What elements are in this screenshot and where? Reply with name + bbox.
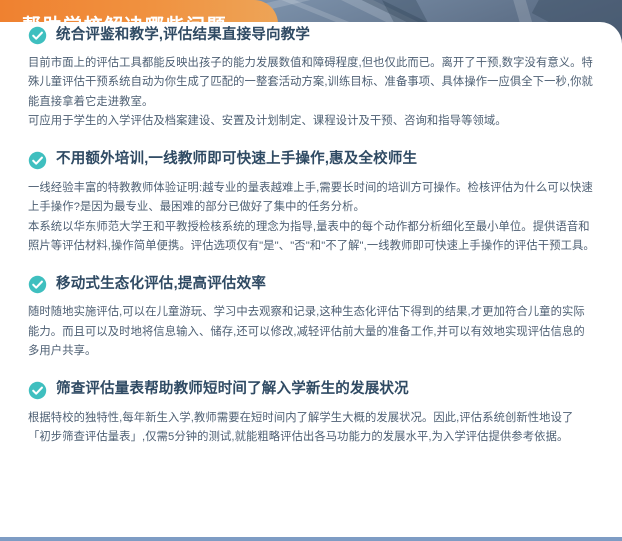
check-circle-icon (28, 26, 47, 45)
section-body: 目前市面上的评估工具都能反映出孩子的能力发展数值和障碍程度,但也仅此而已。离开了… (28, 54, 596, 132)
section-body: 一线经验丰富的特教教师体验证明:越专业的量表越难上手,需要长时间的培训方可操作。… (28, 179, 596, 257)
section-header: 移动式生态化评估,提高评估效率 (28, 275, 596, 294)
check-circle-icon (28, 151, 47, 170)
section-paragraph: 随时随地实施评估,可以在儿童游玩、学习中去观察和记录,这种生态化评估下得到的结果… (28, 303, 596, 361)
section-paragraph: 一线经验丰富的特教教师体验证明:越专业的量表越难上手,需要长时间的培训方可操作。… (28, 179, 596, 218)
section-paragraph: 根据特校的独特性,每年新生入学,教师需要在短时间内了解学生大概的发展状况。因此,… (28, 409, 596, 448)
section-header: 筛查评估量表帮助教师短时间了解入学新生的发展状况 (28, 381, 596, 400)
section-title: 不用额外培训,一线教师即可快速上手操作,惠及全校师生 (56, 151, 417, 168)
section-body: 随时随地实施评估,可以在儿童游玩、学习中去观察和记录,这种生态化评估下得到的结果… (28, 303, 596, 361)
section-paragraph: 本系统以华东师范大学王和平教授检核系统的理念为指导,量表中的每个动作都分析细化至… (28, 218, 596, 257)
check-circle-icon (28, 381, 47, 400)
feature-section: 统合评鉴和教学,评估结果直接导向教学 目前市面上的评估工具都能反映出孩子的能力发… (28, 26, 596, 132)
feature-section: 不用额外培训,一线教师即可快速上手操作,惠及全校师生 一线经验丰富的特教教师体验… (28, 151, 596, 257)
section-title: 移动式生态化评估,提高评估效率 (56, 276, 266, 293)
bottom-divider (0, 537, 622, 541)
feature-section: 移动式生态化评估,提高评估效率 随时随地实施评估,可以在儿童游玩、学习中去观察和… (28, 275, 596, 361)
section-header: 不用额外培训,一线教师即可快速上手操作,惠及全校师生 (28, 151, 596, 170)
page-root: 帮助学校解决哪些问题 统合评鉴和教学,评估结果直接导向教学 目前市面上的评估工具… (0, 0, 622, 541)
sections-container: 统合评鉴和教学,评估结果直接导向教学 目前市面上的评估工具都能反映出孩子的能力发… (0, 26, 622, 447)
feature-section: 筛查评估量表帮助教师短时间了解入学新生的发展状况 根据特校的独特性,每年新生入学… (28, 381, 596, 448)
section-title: 筛查评估量表帮助教师短时间了解入学新生的发展状况 (56, 381, 409, 398)
section-paragraph: 目前市面上的评估工具都能反映出孩子的能力发展数值和障碍程度,但也仅此而已。离开了… (28, 54, 596, 112)
check-circle-icon (28, 275, 47, 294)
section-title: 统合评鉴和教学,评估结果直接导向教学 (56, 27, 310, 44)
section-header: 统合评鉴和教学,评估结果直接导向教学 (28, 26, 596, 45)
section-paragraph: 可应用于学生的入学评估及档案建设、安置及计划制定、课程设计及干预、咨询和指导等领… (28, 112, 596, 131)
section-body: 根据特校的独特性,每年新生入学,教师需要在短时间内了解学生大概的发展状况。因此,… (28, 409, 596, 448)
